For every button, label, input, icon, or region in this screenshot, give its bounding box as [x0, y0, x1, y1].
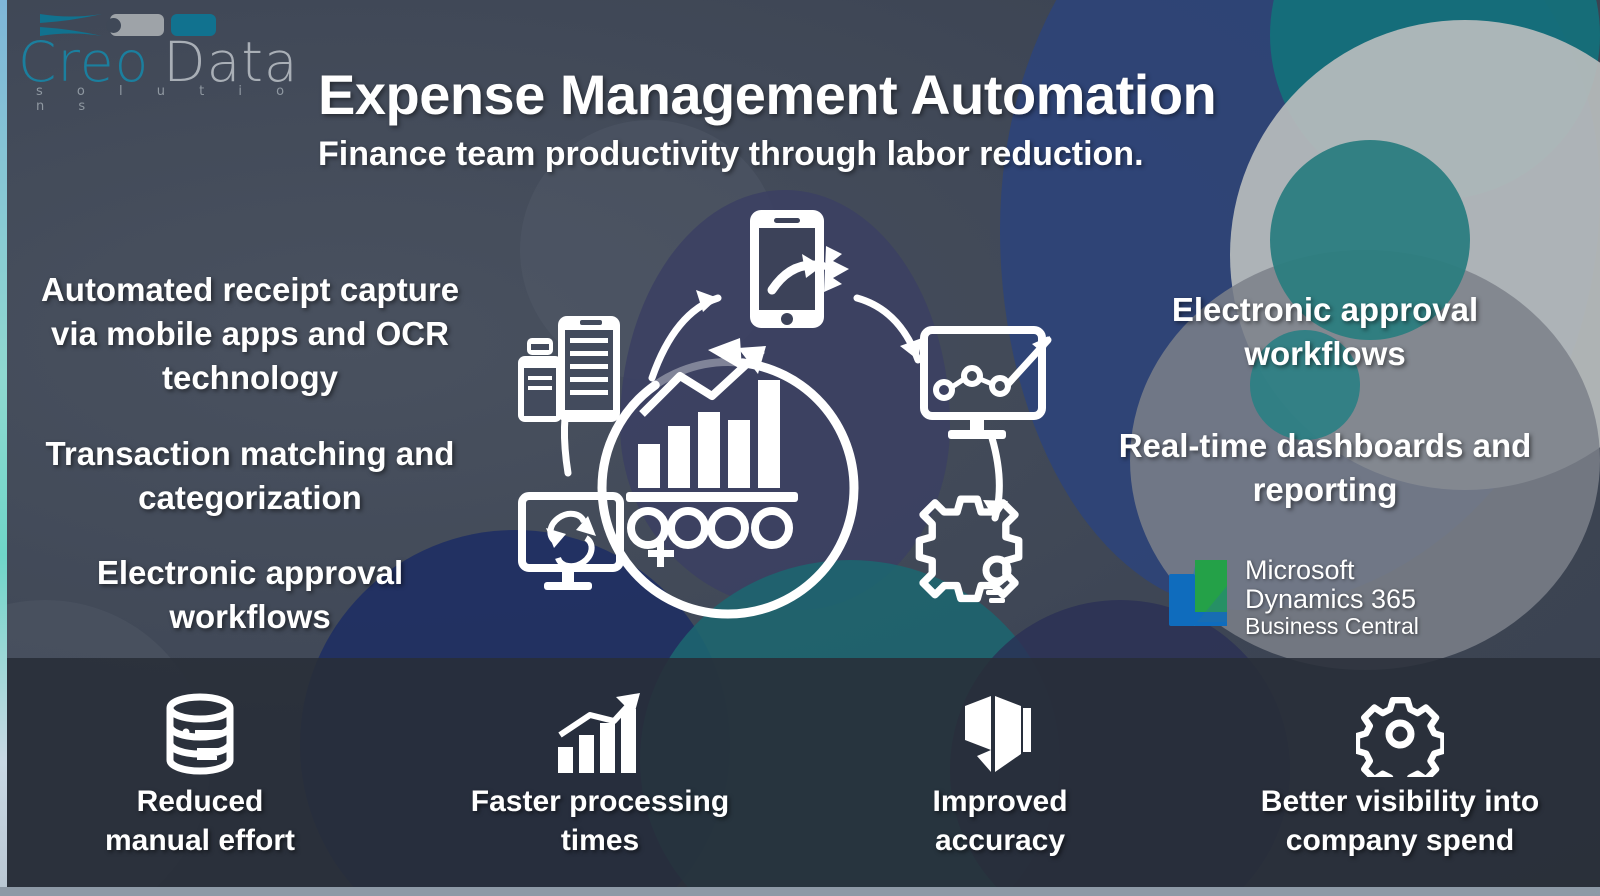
creo-data-logo-mark-icon — [18, 10, 198, 40]
dynamics-365-logo-icon — [1165, 556, 1231, 638]
feature-item: Transaction matching and categorization — [30, 432, 470, 520]
page-title: Expense Management Automation — [318, 62, 1216, 127]
mobile-capture-icon — [750, 210, 849, 328]
benefit-label: Better visibility intocompany spend — [1261, 782, 1539, 860]
page-subtitle: Finance team productivity through labor … — [318, 135, 1216, 174]
bowtie-shape-icon — [38, 12, 104, 38]
gear-idea-icon — [919, 499, 1018, 603]
logo-teal-pill-shape — [171, 14, 216, 36]
benefit-item: Improvedaccuracy — [800, 658, 1200, 887]
benefit-label: Improvedaccuracy — [932, 782, 1067, 860]
center-process-graphic — [500, 198, 1080, 658]
feature-item: Electronic approval workflows — [1110, 288, 1540, 376]
feature-item: Real-time dashboards and reporting — [1110, 424, 1540, 512]
benefits-bar: Reducedmanual effort Faster processingti… — [0, 658, 1600, 887]
feature-item: Automated receipt capture via mobile app… — [30, 268, 470, 400]
product-badge-line-2: Dynamics 365 — [1245, 585, 1419, 614]
right-feature-column: Electronic approval workflows Real-time … — [1110, 288, 1540, 560]
benefit-label: Reducedmanual effort — [105, 782, 295, 860]
growth-bar-chart-icon — [552, 692, 648, 776]
database-icon — [159, 692, 241, 776]
product-badge: Microsoft Dynamics 365 Business Central — [1165, 556, 1419, 640]
brand-tagline: s o l u t i o n s — [36, 84, 328, 114]
benefit-item: Better visibility intocompany spend — [1200, 658, 1600, 887]
dynamics-accuracy-icon — [961, 692, 1039, 776]
benefit-item: Reducedmanual effort — [0, 658, 400, 887]
logo-notch-shape — [106, 18, 121, 33]
left-edge-accent — [0, 0, 7, 896]
brand-wordmark: CreoData — [18, 36, 328, 88]
documents-receipt-icon — [518, 316, 620, 422]
benefit-label: Faster processingtimes — [471, 782, 729, 860]
product-badge-line-3: Business Central — [1245, 614, 1419, 640]
feature-item: Electronic approval workflows — [30, 551, 470, 639]
dashboard-analytics-icon — [924, 330, 1050, 439]
slide-canvas: CreoData s o l u t i o n s Expense Manag… — [0, 0, 1600, 896]
left-feature-column: Automated receipt capture via mobile app… — [30, 268, 470, 671]
gear-icon — [1356, 692, 1444, 776]
product-badge-text: Microsoft Dynamics 365 Business Central — [1245, 556, 1419, 640]
bottom-edge-strip — [0, 887, 1600, 896]
benefit-item: Faster processingtimes — [400, 658, 800, 887]
header-block: Expense Management Automation Finance te… — [318, 62, 1216, 174]
product-badge-line-1: Microsoft — [1245, 556, 1419, 585]
center-process-diagram-icon — [500, 198, 1080, 658]
brand-logo: CreoData s o l u t i o n s — [18, 10, 328, 114]
